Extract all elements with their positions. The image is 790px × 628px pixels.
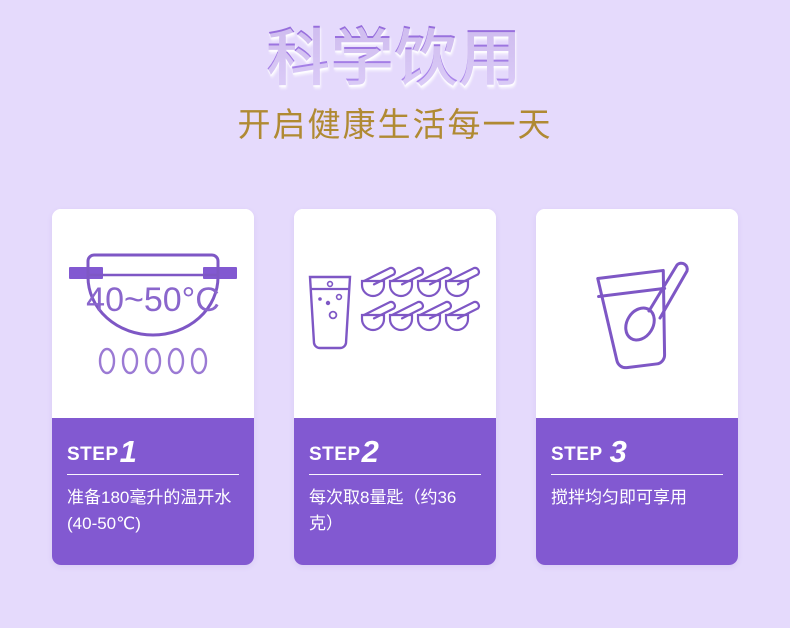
step-1-illustration: 40~50°C — [52, 209, 254, 418]
page-header: 科学饮用 开启健康生活每一天 — [0, 0, 790, 145]
step-card-2[interactable]: STEP 2 每次取8量匙（约36克） — [294, 209, 496, 565]
kettle-bowl-icon: 40~50°C — [63, 239, 243, 389]
step-1-word: STEP — [67, 445, 119, 464]
step-2-footer: STEP 2 每次取8量匙（约36克） — [294, 418, 496, 565]
step-2-number: 2 — [362, 436, 379, 467]
step-2-divider — [309, 474, 481, 475]
step-card-1[interactable]: 40~50°C STEP 1 准备180毫升的温开水(40-50℃) — [52, 209, 254, 565]
step-1-footer: STEP 1 准备180毫升的温开水(40-50℃) — [52, 418, 254, 565]
step-3-label: STEP 3 — [551, 434, 723, 465]
step-2-description: 每次取8量匙（约36克） — [309, 485, 481, 536]
page-title: 科学饮用 — [0, 0, 790, 95]
step-card-list: 40~50°C STEP 1 准备180毫升的温开水(40-50℃) — [52, 209, 738, 565]
step-1-divider — [67, 474, 239, 475]
step-2-label: STEP 2 — [309, 434, 481, 465]
water-glass-icon — [310, 277, 350, 348]
step-3-description: 搅拌均匀即可享用 — [551, 485, 723, 511]
glass-and-scoops-icon — [302, 239, 488, 389]
step-card-3[interactable]: STEP 3 搅拌均匀即可享用 — [536, 209, 738, 565]
glass-with-spoon-icon — [557, 234, 717, 394]
step-3-divider — [551, 474, 723, 475]
step-2-word: STEP — [309, 445, 361, 464]
step-1-description: 准备180毫升的温开水(40-50℃) — [67, 485, 239, 536]
step-1-label: STEP 1 — [67, 434, 239, 465]
temperature-label: 40~50°C — [86, 281, 220, 319]
step-3-word: STEP — [551, 445, 603, 464]
step-2-illustration — [294, 209, 496, 418]
page-subtitle: 开启健康生活每一天 — [0, 95, 790, 145]
scoop-group — [362, 267, 479, 329]
step-1-number: 1 — [120, 436, 137, 467]
step-3-footer: STEP 3 搅拌均匀即可享用 — [536, 418, 738, 565]
step-3-illustration — [536, 209, 738, 418]
step-3-number: 3 — [610, 436, 627, 467]
